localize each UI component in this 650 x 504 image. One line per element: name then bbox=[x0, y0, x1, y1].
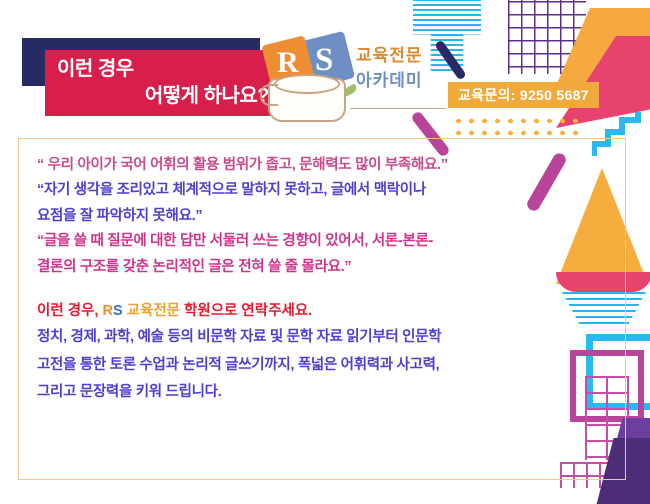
content-spacer bbox=[37, 280, 607, 298]
title-line-2: 어떻게 하나요? bbox=[57, 83, 271, 110]
quote-line: 결론의 구조를 갖춘 논리적인 글은 전혀 쓸 줄 몰라요.” bbox=[37, 255, 607, 280]
body-line: 고전을 통한 토론 수업과 논리적 글쓰기까지, 폭넓은 어휘력과 사고력, bbox=[37, 352, 607, 380]
title-line-1: 이런 경우 bbox=[57, 56, 271, 83]
logo-letter-s: S bbox=[315, 42, 333, 79]
call-to-action-line: 이런 경우, RS 교육전문 학원으로 연락주세요. bbox=[37, 298, 607, 324]
content-panel: “ 우리 아이가 국어 어휘의 활용 범위가 좁고, 문해력도 많이 부족해요.… bbox=[18, 138, 626, 480]
cta-prefix: 이런 경우, bbox=[37, 303, 102, 319]
quote-line: “자기 생각을 조리있고 체계적으로 말하지 못하고, 글에서 맥락이나 bbox=[37, 178, 607, 203]
body-line: 정치, 경제, 과학, 예술 등의 비문학 자료 및 문학 자료 읽기부터 인문… bbox=[37, 324, 607, 352]
cta-brand-kr: 교육전문 bbox=[123, 303, 184, 319]
tree-stump-handle-icon bbox=[260, 84, 278, 106]
quote-line: “ 우리 아이가 국어 어휘의 활용 범위가 좁고, 문해력도 많이 부족해요.… bbox=[37, 153, 607, 178]
cta-brand-s: S bbox=[113, 303, 123, 319]
cta-suffix: 학원으로 연락주세요. bbox=[184, 303, 312, 319]
page-title: 이런 경우 어떻게 하나요? bbox=[45, 50, 283, 116]
orange-dot-matrix-decoration bbox=[452, 113, 580, 137]
tree-stump-top-icon bbox=[274, 74, 340, 94]
poster-canvas: 이런 경우 어떻게 하나요? R S 교육전문 아카데미 교육문의: 9250 … bbox=[0, 0, 650, 504]
cta-brand-r: R bbox=[102, 303, 112, 319]
body-line: 그리고 문장력을 키워 드립니다. bbox=[37, 379, 607, 407]
logo-underline-divider bbox=[350, 108, 446, 109]
phone-inquiry-badge[interactable]: 교육문의: 9250 5687 bbox=[448, 82, 599, 108]
quote-line: “글을 쓸 때 질문에 대한 답만 서둘러 쓰는 경향이 있어서, 서론-본론- bbox=[37, 229, 607, 254]
quote-line: 요점을 잘 파악하지 못해요.” bbox=[37, 204, 607, 229]
logo-name-line-2: 아카데미 bbox=[356, 69, 442, 94]
purple-grid-decoration bbox=[508, 0, 586, 74]
brand-logo: R S 교육전문 아카데미 bbox=[258, 34, 438, 134]
logo-name-line-1: 교육전문 bbox=[356, 44, 442, 69]
logo-brand-name: 교육전문 아카데미 bbox=[356, 44, 442, 93]
